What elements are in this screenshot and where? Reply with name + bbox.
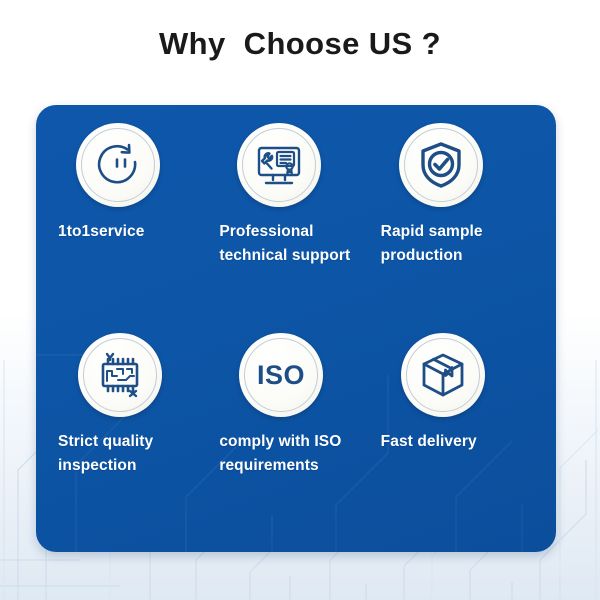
- monitor-wrench-certificate-icon: [253, 139, 305, 191]
- icon-badge: [399, 123, 483, 207]
- feature-label: Fast delivery: [381, 430, 477, 454]
- package-box-icon: [418, 350, 468, 400]
- feature-item-1to1service[interactable]: 1to1service: [58, 123, 219, 333]
- icon-badge: [401, 333, 485, 417]
- icon-badge: [76, 123, 160, 207]
- icon-badge: [78, 333, 162, 417]
- microchip-icon: [94, 349, 146, 401]
- feature-label: Strict quality inspection: [58, 430, 153, 479]
- feature-label: 1to1service: [58, 220, 144, 244]
- feature-item-technical-support[interactable]: Professional technical support: [219, 123, 380, 333]
- feature-grid: 1to1service: [36, 105, 556, 552]
- feature-label: comply with ISO requirements: [219, 430, 341, 479]
- features-panel: 1to1service: [36, 105, 556, 552]
- iso-label: ISO: [257, 360, 305, 390]
- feature-item-fast-delivery[interactable]: Fast delivery: [381, 333, 542, 543]
- icon-badge: ISO: [239, 333, 323, 417]
- feature-item-rapid-sample[interactable]: Rapid sample production: [381, 123, 542, 333]
- feature-item-iso[interactable]: ISO comply with ISO requirements: [219, 333, 380, 543]
- smiley-service-icon: [93, 140, 143, 190]
- icon-badge: [237, 123, 321, 207]
- shield-check-icon: [416, 140, 466, 190]
- feature-item-strict-quality[interactable]: Strict quality inspection: [58, 333, 219, 543]
- feature-label: Rapid sample production: [381, 220, 483, 269]
- feature-label: Professional technical support: [219, 220, 350, 269]
- page-title: Why Choose US ?: [0, 26, 600, 62]
- iso-text-icon: ISO: [250, 355, 312, 395]
